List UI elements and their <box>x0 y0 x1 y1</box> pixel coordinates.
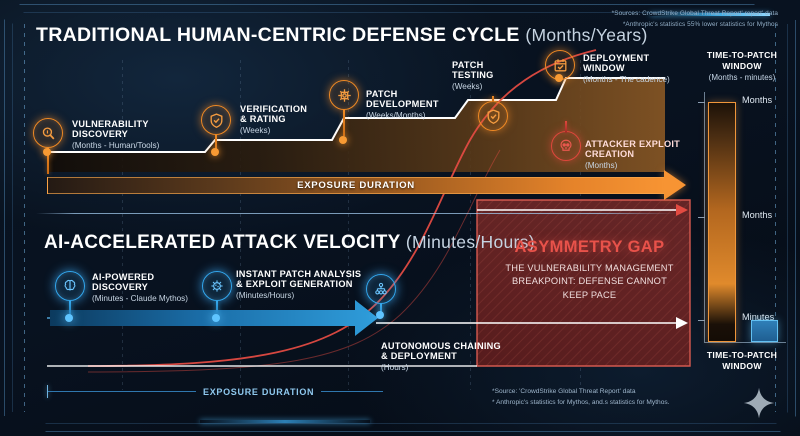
ttp-tick-bottom <box>698 320 705 321</box>
exposure-bottom-rule-right <box>321 391 383 392</box>
node-stem <box>565 121 567 133</box>
ai-stage-label-line2: DISCOVERY <box>92 282 188 292</box>
asymmetry-gap-title: ASYMMETRY GAP <box>487 238 692 257</box>
virus-icon <box>202 271 232 301</box>
asymmetry-gap-line-2: BREAKPOINT: DEFENSE CANNOT <box>487 275 692 288</box>
node-dot <box>376 311 384 319</box>
ttp-tick-mid <box>698 217 705 218</box>
node-dot <box>43 148 51 156</box>
stage-label-line1: VULNERABILITY <box>72 119 159 129</box>
ttp-panel-title: TIME-TO-PATCH WINDOW <box>690 50 794 71</box>
stage-label: DEPLOYMENT WINDOW (Months - The cadence) <box>583 53 670 84</box>
node-dot <box>211 148 219 156</box>
bottom-accent-bar <box>200 420 370 423</box>
stage-label-line1: DEPLOYMENT <box>583 53 670 63</box>
asymmetry-gap-line-1: THE VULNERABILITY MANAGEMENT <box>487 262 692 275</box>
stage-label-sub: (Months - The cadence) <box>583 75 670 84</box>
ttp-tick-top <box>698 102 705 103</box>
vertical-guide <box>348 60 349 390</box>
ai-stage-label: AI-POWERED DISCOVERY (Minutes - Claude M… <box>92 272 188 303</box>
shield-check-icon <box>478 101 508 131</box>
ai-stage-label-sub: (Hours) <box>381 363 501 372</box>
exposure-duration-arrow-top <box>664 170 686 200</box>
shield-check-icon <box>201 105 231 135</box>
stage-label: VERIFICATION & RATING (Weeks) <box>240 104 307 135</box>
skull-icon <box>551 131 581 161</box>
top-section-title: TRADITIONAL HUMAN-CENTRIC DEFENSE CYCLE … <box>36 24 648 47</box>
network-node-icon <box>366 274 396 304</box>
stage-label-line1: PATCH <box>366 89 439 99</box>
vertical-guide <box>122 60 123 390</box>
attacker-label-line1: ATTACKER EXPLOIT <box>585 139 680 149</box>
infographic-root: *Sources: CrowdStrike Global Threat Repo… <box>0 0 800 436</box>
exposure-duration-label-top: EXPOSURE DURATION <box>297 180 415 191</box>
ttp-x-axis <box>704 342 786 343</box>
stage-label-line2: WINDOW <box>583 63 670 73</box>
node-dot <box>339 136 347 144</box>
exposure-duration-bottom: EXPOSURE DURATION <box>47 385 477 398</box>
ttp-footer-line-2: WINDOW <box>686 361 798 372</box>
stage-label-line2: DISCOVERY <box>72 129 159 139</box>
gear-chip-icon <box>329 80 359 110</box>
stage-label-line1: PATCH <box>452 60 494 70</box>
ttp-label-months-top: Months <box>742 95 772 105</box>
ttp-title-line-2: WINDOW <box>690 61 794 72</box>
ttp-title-line-1: TIME-TO-PATCH <box>690 50 794 61</box>
sources-bottom-line-1: *Source: 'CrowdStrike Global Threat Repo… <box>492 386 670 397</box>
stage-label-sub: (Weeks) <box>452 82 494 91</box>
attacker-label-line2: CREATION <box>585 149 680 159</box>
vertical-guide <box>580 60 581 390</box>
ttp-bar-chart: Months Months Minutes <box>696 92 794 347</box>
ttp-label-months-mid: Months <box>742 210 772 220</box>
asymmetry-gap-block: ASYMMETRY GAP THE VULNERABILITY MANAGEME… <box>487 238 692 302</box>
stage-label: VULNERABILITY DISCOVERY (Months - Human/… <box>72 119 159 150</box>
time-to-patch-panel: TIME-TO-PATCH WINDOW (Months - minutes) <box>690 50 794 82</box>
ai-stage-label-sub: (Minutes - Claude Mythos) <box>92 294 188 303</box>
top-section-title-main: TRADITIONAL HUMAN-CENTRIC DEFENSE CYCLE <box>36 24 520 46</box>
ai-stage-label-line1: AUTONOMOUS CHAINING <box>381 341 501 351</box>
ai-stage-label-line2: & EXPLOIT GENERATION <box>236 279 361 289</box>
ttp-bar-minutes <box>751 320 778 342</box>
stage-label-line2: & RATING <box>240 114 307 124</box>
ai-stage-label-line1: INSTANT PATCH ANALYSIS <box>236 269 361 279</box>
ai-stage-label: INSTANT PATCH ANALYSIS & EXPLOIT GENERAT… <box>236 269 361 300</box>
exposure-bottom-rule-left <box>48 391 196 392</box>
stage-label: PATCH TESTING (Weeks) <box>452 60 494 91</box>
bottom-section-title: AI-ACCELERATED ATTACK VELOCITY (Minutes/… <box>44 232 535 254</box>
sources-line-1: *Sources: CrowdStrike Global Threat Repo… <box>612 9 778 20</box>
ttp-bar-months <box>708 102 736 342</box>
attacker-label-sub: (Months) <box>585 161 680 170</box>
section-divider <box>36 213 676 214</box>
bottom-section-title-main: AI-ACCELERATED ATTACK VELOCITY <box>44 232 400 253</box>
sources-note-bottom: *Source: 'CrowdStrike Global Threat Repo… <box>492 386 670 408</box>
claude-star-logo <box>742 386 776 425</box>
stage-label-line2: DEVELOPMENT <box>366 99 439 109</box>
node-stem <box>492 96 494 102</box>
ttp-footer-line-1: TIME-TO-PATCH <box>686 350 798 361</box>
brain-icon <box>55 271 85 301</box>
stage-label-line1: VERIFICATION <box>240 104 307 114</box>
stage-label-sub: (Weeks) <box>240 126 307 135</box>
node-dot <box>65 314 73 322</box>
ai-stage-label-sub: (Minutes/Hours) <box>236 291 361 300</box>
stage-label-line2: TESTING <box>452 70 494 80</box>
stage-label-sub: (Weeks/Months) <box>366 111 439 120</box>
ai-stage-label-line1: AI-POWERED <box>92 272 188 282</box>
attacker-label: ATTACKER EXPLOIT CREATION (Months) <box>585 139 680 170</box>
sources-bottom-line-2: * Anthropic's statistics for Mythos, and… <box>492 397 670 408</box>
stage-label-sub: (Months - Human/Tools) <box>72 141 159 150</box>
top-section-title-suffix: (Months/Years) <box>525 25 647 45</box>
left-dashed-rail <box>24 24 25 412</box>
ttp-panel-subtitle: (Months - minutes) <box>690 73 794 82</box>
ttp-footer-label: TIME-TO-PATCH WINDOW <box>686 350 798 371</box>
asymmetry-gap-line-3: KEEP PACE <box>487 289 692 302</box>
node-stem <box>343 110 345 136</box>
node-dot <box>555 74 563 82</box>
ai-stage-label-line2: & DEPLOYMENT <box>381 351 501 361</box>
stage-label: PATCH DEVELOPMENT (Weeks/Months) <box>366 89 439 120</box>
asymmetry-gap-body: THE VULNERABILITY MANAGEMENT BREAKPOINT:… <box>487 262 692 302</box>
node-dot <box>212 314 220 322</box>
magnifier-icon <box>33 118 63 148</box>
exposure-duration-bar-top: EXPOSURE DURATION <box>47 177 665 194</box>
exposure-duration-label-bottom: EXPOSURE DURATION <box>196 387 321 397</box>
ai-stage-label: AUTONOMOUS CHAINING & DEPLOYMENT (Hours) <box>381 341 501 372</box>
